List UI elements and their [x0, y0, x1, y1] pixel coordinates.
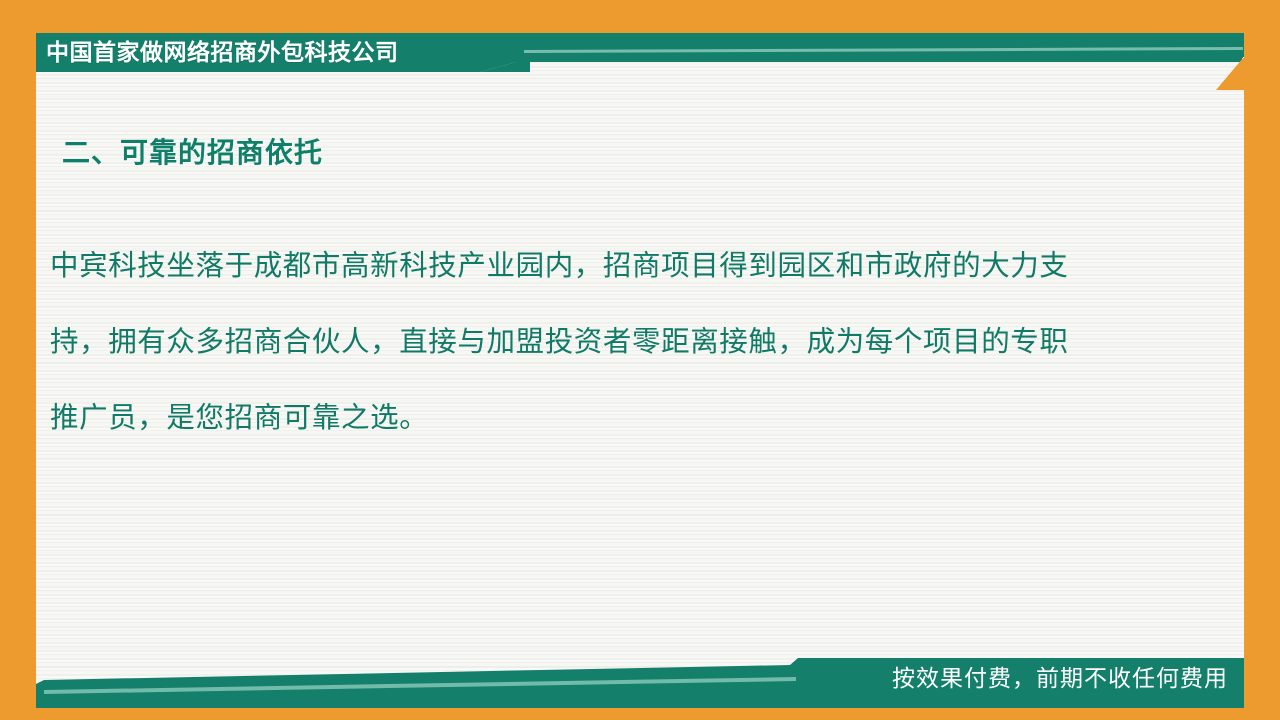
- section-heading: 二、可靠的招商依托: [62, 136, 323, 170]
- footer-left-margin: [0, 610, 36, 720]
- slide-canvas: 中国首家做网络招商外包科技公司 二、可靠的招商依托 中宾科技坐落于成都市高新科技…: [0, 0, 1280, 720]
- footer-base-orange: [0, 708, 1280, 720]
- body-paragraph: 中宾科技坐落于成都市高新科技产业园内，招商项目得到园区和市政府的大力支 持，拥有…: [50, 228, 1190, 456]
- body-line-2: 持，拥有众多招商合伙人，直接与加盟投资者零距离接触，成为每个项目的专职: [50, 304, 1190, 380]
- body-line-3: 推广员，是您招商可靠之选。: [50, 380, 1190, 456]
- footer-right-margin: [1244, 610, 1280, 720]
- body-line-1: 中宾科技坐落于成都市高新科技产业园内，招商项目得到园区和市政府的大力支: [50, 228, 1190, 304]
